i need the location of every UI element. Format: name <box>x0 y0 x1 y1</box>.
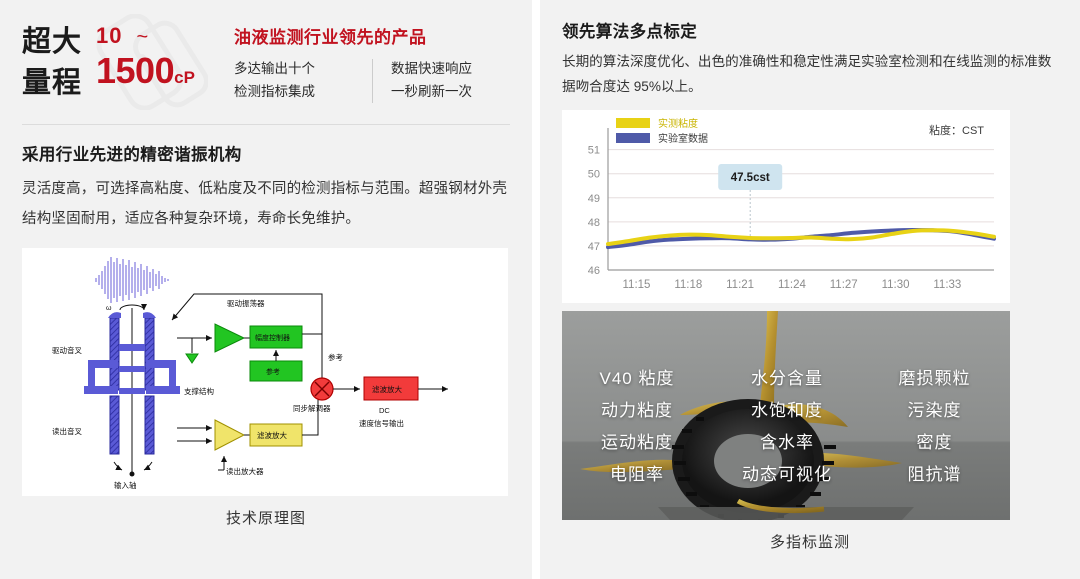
hero-feature-column-2: 数据快速响应 一秒刷新一次 <box>391 57 472 105</box>
chart-ytick-label: 49 <box>588 193 600 205</box>
label-drive-fork: 驱动音叉 <box>52 345 82 355</box>
hero-feature-1-line1: 多达输出十个 <box>234 57 372 80</box>
chart-legend-label: 实验室数据 <box>658 132 708 145</box>
chart-annotation-label: 47.5cst <box>731 172 770 184</box>
label-support: 支撑结构 <box>184 386 214 396</box>
range-tilde: ~ <box>137 26 150 48</box>
left-section-body: 灵活度高，可选择高粘度、低粘度及不同的检测指标与范围。超强钢材外壳结构坚固耐用，… <box>22 174 510 234</box>
hero-divider <box>22 124 510 125</box>
right-panel: 领先算法多点标定 长期的算法深度优化、出色的准确性和稳定性满足实验室检测和在线监… <box>540 0 1080 579</box>
chart-xtick-label: 11:21 <box>726 279 754 291</box>
left-panel: 超大 量程 10~ 1500cP <box>0 0 532 579</box>
label-sync-demod: 同步解调器 <box>293 403 331 413</box>
label-filter-amp-bottom: 滤波放大 <box>257 430 287 440</box>
range-max-row: 1500cP <box>96 51 216 98</box>
chart-legend-label: 实测粘度 <box>658 117 698 130</box>
chart-xtick-label: 11:24 <box>778 279 807 291</box>
photo-label-2-3: 动态可视化 <box>712 459 862 491</box>
chart-ytick-label: 48 <box>588 217 600 229</box>
range-min-row: 10~ <box>96 24 216 49</box>
hero-feature-1-line2: 检测指标集成 <box>234 80 372 103</box>
label-dc: DC <box>379 406 390 415</box>
photo-label-column-1: V40 粘度 动力粘度 运动粘度 电阻率 <box>572 363 702 491</box>
chart-ytick-label: 47 <box>588 241 600 253</box>
photo-label-3-0: 磨损颗粒 <box>867 363 1002 395</box>
photo-label-3-3: 阻抗谱 <box>867 459 1002 491</box>
technical-diagram: ω <box>22 248 508 496</box>
photo-label-3-1: 污染度 <box>867 395 1002 427</box>
chart-unit-label: 粘度：CST <box>929 123 984 137</box>
hero-right-block: 油液监测行业领先的产品 多达输出十个 检测指标集成 数据快速响应 一秒刷新一次 <box>234 18 510 105</box>
label-drive-oscillator: 驱动振荡器 <box>227 298 265 308</box>
right-section-body: 长期的算法深度优化、出色的准确性和稳定性满足实验室检测和在线监测的标准数据吻合度… <box>562 49 1058 99</box>
photo-label-1-1: 动力粘度 <box>572 395 702 427</box>
hero-chinese-heading: 超大 量程 <box>22 18 82 104</box>
photo-label-1-2: 运动粘度 <box>572 427 702 459</box>
label-dc-output: 速度信号输出 <box>359 418 404 428</box>
hero-range-block: 10~ 1500cP <box>96 18 216 98</box>
waveform-icon <box>96 257 168 303</box>
chart-legend-swatch <box>616 118 650 128</box>
hero-column-divider <box>372 59 373 103</box>
left-caption: 技术原理图 <box>22 507 510 528</box>
photo-label-1-0: V40 粘度 <box>572 363 702 395</box>
chart-xtick-label: 11:33 <box>933 279 961 291</box>
range-min-value: 10 <box>96 23 122 48</box>
label-input-shaft: 输入轴 <box>114 480 137 490</box>
hero-feature-column-1: 多达输出十个 检测指标集成 <box>234 57 372 105</box>
range-max-value: 1500 <box>96 50 174 91</box>
photo-label-2-1: 水饱和度 <box>712 395 862 427</box>
range-unit: cP <box>174 68 195 87</box>
hero-title: 油液监测行业领先的产品 <box>234 23 510 48</box>
chart-xtick-label: 11:30 <box>882 279 910 291</box>
chart-ytick-label: 51 <box>588 145 600 157</box>
viscosity-chart: 46474849505111:1511:1811:2111:2411:2711:… <box>562 110 1010 303</box>
hero-feature-columns: 多达输出十个 检测指标集成 数据快速响应 一秒刷新一次 <box>234 57 510 105</box>
hero-block: 超大 量程 10~ 1500cP <box>22 18 510 114</box>
multi-indicator-photo: V40 粘度 动力粘度 运动粘度 电阻率 水分含量 水饱和度 含水率 动态可视化… <box>562 311 1010 520</box>
photo-label-column-2: 水分含量 水饱和度 含水率 动态可视化 <box>712 363 862 491</box>
technical-diagram-svg: ω <box>22 248 508 496</box>
chart-ytick-label: 50 <box>588 169 600 181</box>
chart-ytick-label: 46 <box>588 265 600 277</box>
label-readout-fork: 读出音叉 <box>52 426 82 436</box>
chart-legend-swatch <box>616 133 650 143</box>
left-section-title: 采用行业先进的精密谐振机构 <box>22 141 510 165</box>
viscosity-chart-svg: 46474849505111:1511:1811:2111:2411:2711:… <box>562 110 1010 303</box>
photo-label-3-2: 密度 <box>867 427 1002 459</box>
photo-label-1-3: 电阻率 <box>572 459 702 491</box>
photo-label-2-2: 含水率 <box>712 427 862 459</box>
label-reference-box: 参考 <box>266 367 280 376</box>
chart-xtick-label: 11:27 <box>830 279 858 291</box>
label-reference: 参考 <box>328 352 343 362</box>
photo-label-2-0: 水分含量 <box>712 363 862 395</box>
label-filter-amp-top: 滤波放大 <box>372 384 402 394</box>
right-caption: 多指标监测 <box>562 531 1058 552</box>
label-amp-controller: 幅度控制器 <box>255 333 290 342</box>
hero-chinese-line1: 超大 <box>22 22 82 63</box>
hero-feature-2-line1: 数据快速响应 <box>391 57 472 80</box>
page-root: 超大 量程 10~ 1500cP <box>0 0 1080 579</box>
right-section-title: 领先算法多点标定 <box>562 18 1058 42</box>
hero-feature-2-line2: 一秒刷新一次 <box>391 80 472 103</box>
hero-chinese-line2: 量程 <box>22 63 82 104</box>
chart-xtick-label: 11:15 <box>623 279 651 291</box>
chart-xtick-label: 11:18 <box>674 279 702 291</box>
label-omega: ω <box>106 305 112 312</box>
label-readout-amp: 读出放大器 <box>226 466 264 476</box>
photo-label-column-3: 磨损颗粒 污染度 密度 阻抗谱 <box>867 363 1002 491</box>
